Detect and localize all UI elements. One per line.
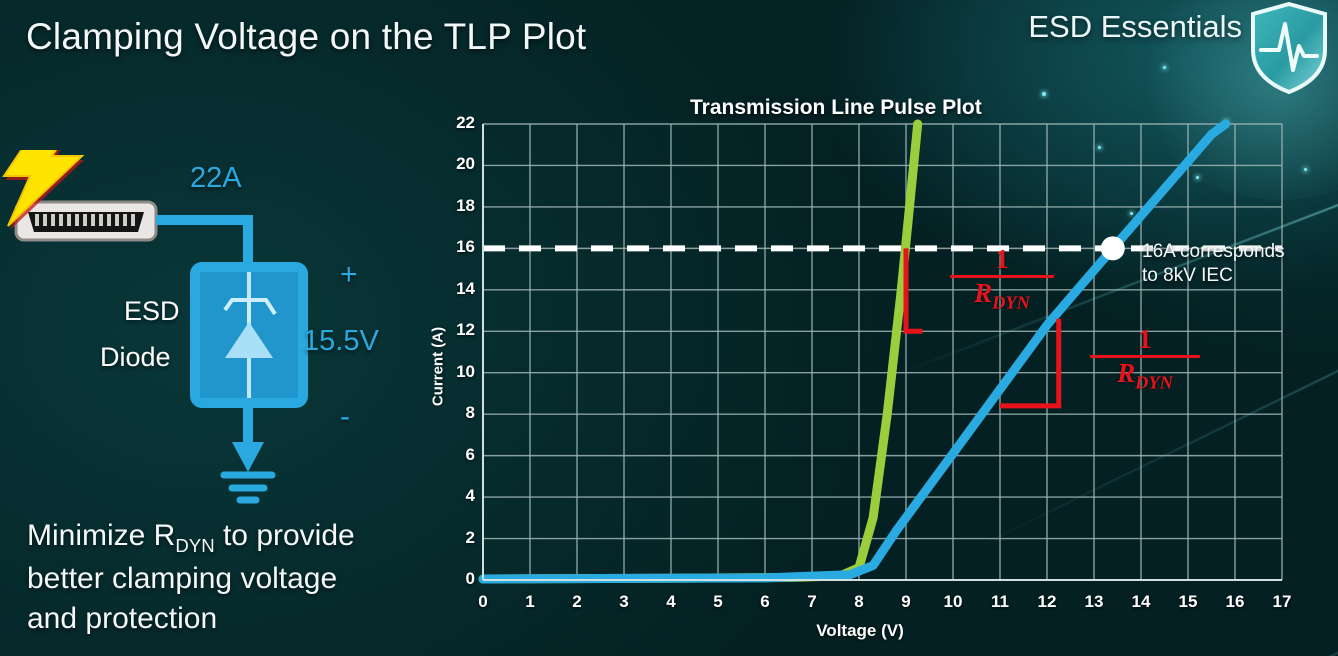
slope-annotation-low-rdyn: 1 RDYN [950,246,1054,313]
slope-annotation-numerator: 1 [950,246,1054,273]
slope-annotation-numerator: 1 [1090,326,1200,353]
tlp-chart: Transmission Line Pulse Plot Current (A)… [410,88,1338,656]
esd-circuit-diagram: 22A ESD Diode 15.5V + - [0,150,420,510]
denominator-base: R [974,278,992,308]
polarity-plus-label: + [340,258,358,292]
note-line1-pre: Minimize R [27,519,175,552]
tvs-diode-icon [190,262,308,408]
summary-note-line3: and protection [27,599,355,639]
note-line1-post: to provide [215,519,355,552]
shield-pulse-icon [1246,0,1332,96]
current-arrow-icon [232,442,264,472]
ground-icon [224,475,272,500]
polarity-minus-label: - [340,400,350,434]
chart-series-line [483,124,918,579]
denominator-base: R [1117,358,1135,388]
surge-current-label: 22A [190,162,242,195]
fraction-bar [1090,355,1200,358]
hdmi-connector-icon [16,202,156,240]
summary-note-line2: better clamping voltage [27,559,355,599]
slope-annotation-denominator: RDYN [1090,359,1200,393]
note-line1-subscript: DYN [175,535,214,556]
page-title: Clamping Voltage on the TLP Plot [26,16,586,58]
denominator-subscript: DYN [1135,372,1173,392]
fraction-bar [950,275,1054,278]
background-dot [1163,66,1166,69]
threshold-callout-line2: to 8kV IEC [1142,264,1285,288]
summary-note: Minimize RDYN to provide better clamping… [27,516,355,639]
summary-note-line1: Minimize RDYN to provide [27,516,355,559]
slide-background: Clamping Voltage on the TLP Plot ESD Ess… [0,0,1338,656]
threshold-marker-dot [1101,236,1125,260]
slope-annotation-high-rdyn: 1 RDYN [1090,326,1200,393]
clamp-voltage-label: 15.5V [303,325,379,358]
device-label-line2: Diode [100,342,171,373]
brand-label: ESD Essentials [1028,9,1242,45]
slope-annotation-denominator: RDYN [950,279,1054,313]
threshold-callout-line1: 16A corresponds [1142,240,1285,264]
threshold-callout: 16A corresponds to 8kV IEC [1142,240,1285,288]
device-label-line1: ESD [124,296,180,327]
denominator-subscript: DYN [992,292,1030,312]
